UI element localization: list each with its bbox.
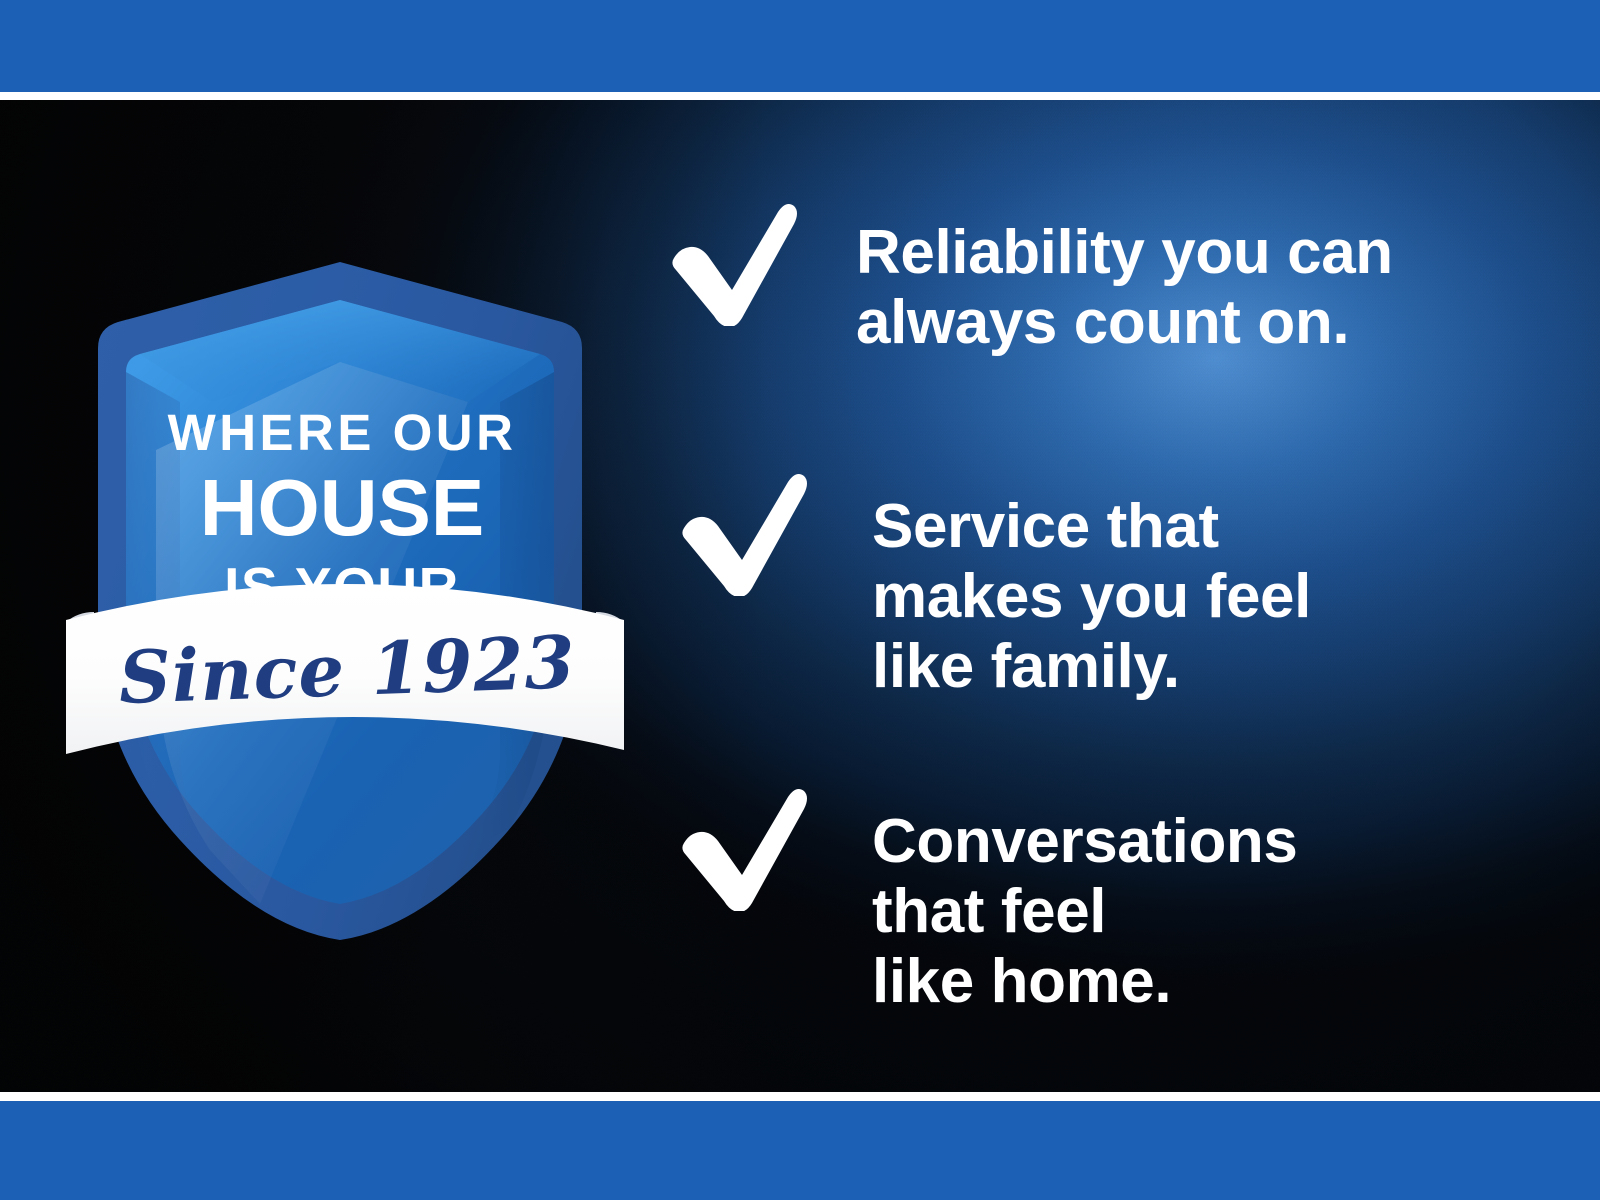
benefit-text-2: Service that makes you feel like family. — [872, 466, 1311, 702]
shield-badge: WHERE OUR HOUSE IS YOUR HOUSE Since 1923 — [60, 150, 630, 960]
ribbon-since-text: Since 1923 — [117, 619, 577, 720]
benefit-text-3: Conversations that feel like home. — [872, 781, 1297, 1017]
benefit-text-1: Reliability you can always count on. — [856, 196, 1393, 358]
shield-tagline-line-2: HOUSE — [200, 463, 485, 552]
benefit-item-1: Reliability you can always count on. — [660, 196, 1393, 358]
bottom-brand-bar — [0, 1101, 1600, 1200]
shield-tagline-line-1: WHERE OUR — [168, 404, 517, 461]
benefit-item-3: Conversations that feel like home. — [660, 781, 1297, 1017]
checkmark-icon — [670, 466, 820, 596]
promo-poster: WHERE OUR HOUSE IS YOUR HOUSE Since 1923… — [0, 0, 1600, 1200]
benefit-item-2: Service that makes you feel like family. — [660, 466, 1311, 702]
top-brand-bar — [0, 0, 1600, 92]
checkmark-icon — [670, 781, 820, 911]
checkmark-icon — [660, 196, 810, 326]
